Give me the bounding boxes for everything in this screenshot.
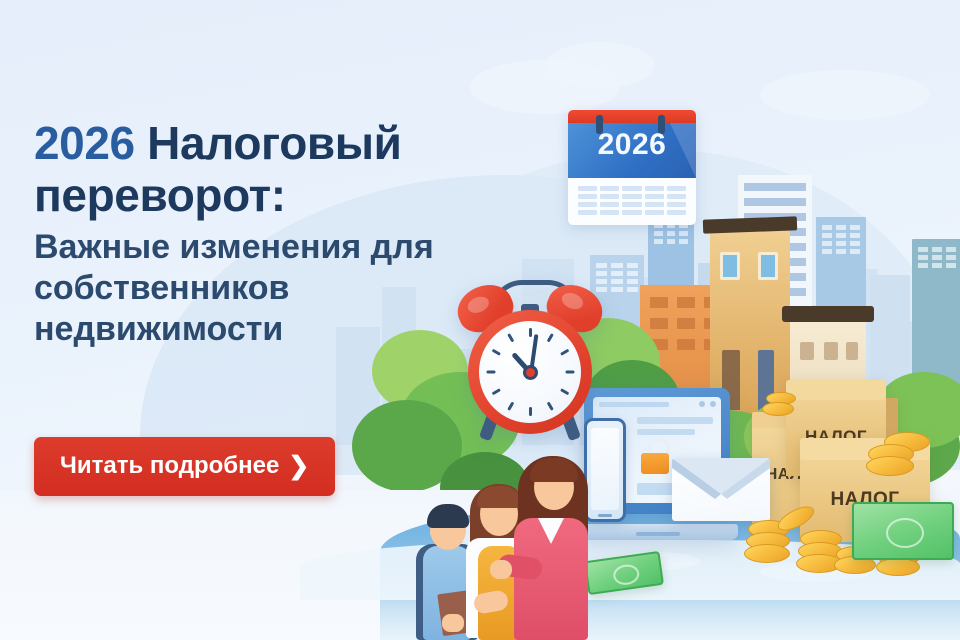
clock-tick: [565, 371, 574, 374]
tax-reform-promo-banner: 2026 НАЛОГ НАЛОГ НАЛОГ: [0, 0, 960, 640]
clock-tick: [486, 371, 495, 374]
envelope: [672, 458, 770, 521]
read-more-label: Читать подробнее: [60, 452, 279, 480]
calendar-2026: 2026: [568, 110, 696, 225]
clock-tick: [546, 402, 553, 411]
chevron-right-icon: ❯: [288, 454, 309, 479]
calendar-year-label: 2026: [568, 128, 696, 162]
clock-face: [479, 321, 581, 423]
clock-tick: [529, 328, 532, 337]
browser-dot: [710, 401, 716, 407]
screen-content-line: [637, 417, 713, 424]
clock-tick: [507, 402, 514, 411]
calendar-top-bar: [568, 110, 696, 123]
clock-tick: [546, 333, 553, 342]
woman-hair-front: [530, 458, 578, 482]
clock-tick: [560, 349, 569, 356]
page-title: 2026 Налоговый переворот:: [34, 118, 464, 221]
woman-hand: [490, 560, 512, 579]
coin: [762, 402, 794, 416]
bell-highlight: [465, 294, 491, 316]
read-more-button[interactable]: Читать подробнее ❯: [34, 437, 335, 496]
boy-hand: [442, 614, 464, 632]
cloud-3: [760, 70, 930, 120]
clock-tick: [529, 407, 532, 416]
subheadline: Важные изменения для собственников недви…: [34, 227, 464, 349]
family-of-three: [416, 452, 592, 640]
phone-home-indicator: [598, 514, 612, 517]
coin: [744, 544, 790, 563]
alarm-clock: [455, 280, 605, 440]
padlock-icon: [641, 453, 669, 474]
banknote: [852, 502, 954, 560]
phone-screen: [591, 428, 619, 510]
cloud-2: [545, 42, 655, 88]
tax-box-top-lid: [786, 380, 886, 400]
clock-tick: [560, 388, 569, 395]
laptop-trackpad: [636, 532, 680, 536]
envelope-flap-icon: [672, 458, 770, 521]
bell-highlight: [559, 290, 585, 312]
clock-center-pin: [523, 365, 538, 380]
clock-tick: [507, 333, 514, 342]
headline-year: 2026: [34, 117, 135, 169]
boy-hair: [427, 504, 469, 528]
screen-content-line: [637, 429, 695, 435]
copy-block: 2026 Налоговый переворот: Важные изменен…: [34, 118, 464, 349]
clock-tick: [491, 349, 500, 356]
person-woman: [514, 452, 592, 640]
coin: [876, 558, 920, 576]
browser-address-bar: [599, 402, 669, 407]
calendar-date-grid: [578, 186, 686, 215]
banknote-emblem: [886, 518, 924, 548]
coin: [866, 456, 914, 476]
banknote-emblem: [612, 563, 641, 586]
browser-dot: [699, 401, 705, 407]
clock-bezel: [468, 310, 592, 434]
clock-tick: [491, 388, 500, 395]
